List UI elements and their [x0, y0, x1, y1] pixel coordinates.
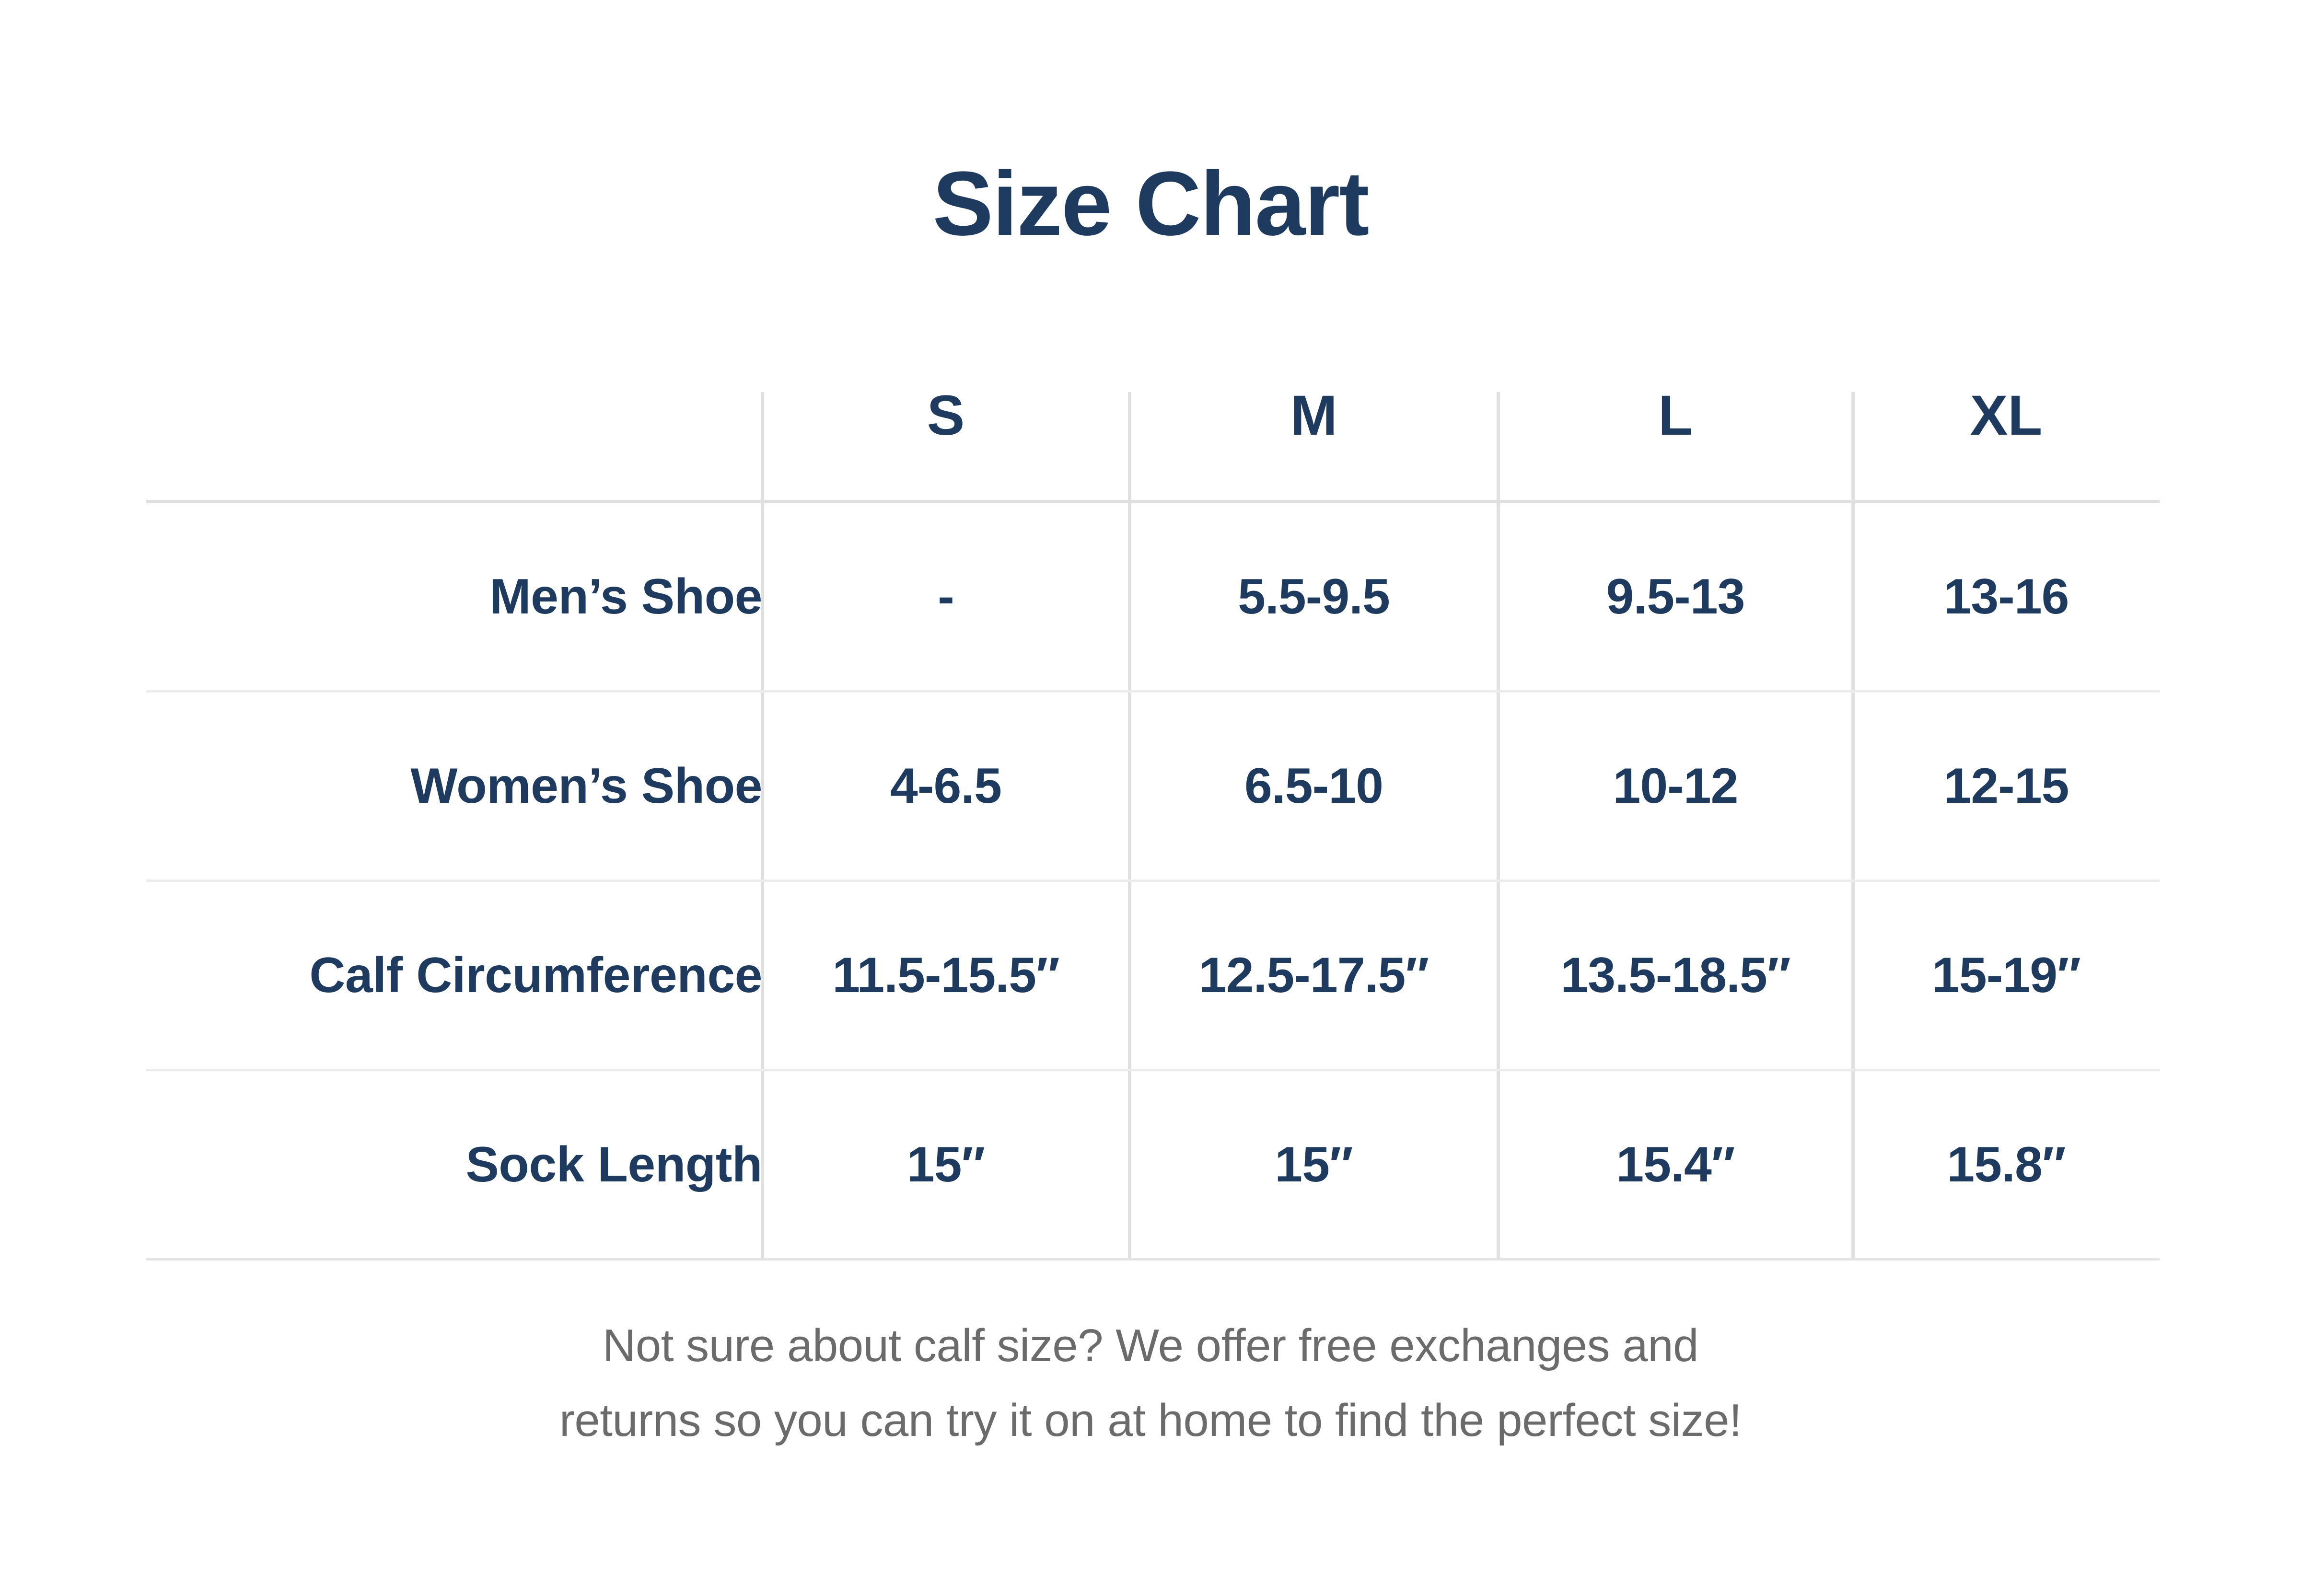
cell-womens-shoe-s: 4-6.5: [762, 692, 1129, 881]
cell-calf-circumference-xl: 15-19″: [1853, 881, 2160, 1070]
size-chart-table-container: S M L XL Men’s Shoe - 5.5-9.5 9.5-13 13-…: [146, 331, 2160, 1261]
table-row: Women’s Shoe 4-6.5 6.5-10 10-12 12-15: [146, 692, 2160, 881]
cell-womens-shoe-m: 6.5-10: [1129, 692, 1498, 881]
page-title: Size Chart: [0, 158, 2301, 249]
header-cell-label-column: [146, 331, 762, 502]
cell-sock-length-l: 15.4″: [1498, 1070, 1853, 1260]
cell-sock-length-m: 15″: [1129, 1070, 1498, 1260]
cell-womens-shoe-xl: 12-15: [1853, 692, 2160, 881]
row-label-sock-length: Sock Length: [146, 1070, 762, 1260]
cell-calf-circumference-l: 13.5-18.5″: [1498, 881, 1853, 1070]
cell-sock-length-s: 15″: [762, 1070, 1129, 1260]
cell-calf-circumference-m: 12.5-17.5″: [1129, 881, 1498, 1070]
table-row: Men’s Shoe - 5.5-9.5 9.5-13 13-16: [146, 502, 2160, 692]
cell-womens-shoe-l: 10-12: [1498, 692, 1853, 881]
cell-mens-shoe-m: 5.5-9.5: [1129, 502, 1498, 692]
cell-mens-shoe-s: -: [762, 502, 1129, 692]
table-row: Sock Length 15″ 15″ 15.4″ 15.8″: [146, 1070, 2160, 1260]
cell-mens-shoe-xl: 13-16: [1853, 502, 2160, 692]
cell-calf-circumference-s: 11.5-15.5″: [762, 881, 1129, 1070]
cell-mens-shoe-l: 9.5-13: [1498, 502, 1853, 692]
header-cell-size-xl: XL: [1853, 331, 2160, 502]
footnote: Not sure about calf size? We offer free …: [0, 1308, 2301, 1457]
footnote-line-2: returns so you can try it on at home to …: [0, 1383, 2301, 1458]
row-label-womens-shoe: Women’s Shoe: [146, 692, 762, 881]
table-header-row: S M L XL: [146, 331, 2160, 502]
row-label-mens-shoe: Men’s Shoe: [146, 502, 762, 692]
row-label-calf-circumference: Calf Circumference: [146, 881, 762, 1070]
table-row: Calf Circumference 11.5-15.5″ 12.5-17.5″…: [146, 881, 2160, 1070]
header-cell-size-s: S: [762, 331, 1129, 502]
header-cell-size-m: M: [1129, 331, 1498, 502]
header-cell-size-l: L: [1498, 331, 1853, 502]
cell-sock-length-xl: 15.8″: [1853, 1070, 2160, 1260]
size-chart-table: S M L XL Men’s Shoe - 5.5-9.5 9.5-13 13-…: [146, 331, 2160, 1261]
footnote-line-1: Not sure about calf size? We offer free …: [0, 1308, 2301, 1383]
size-chart-page: Size Chart S M L XL Men: [0, 0, 2301, 1596]
